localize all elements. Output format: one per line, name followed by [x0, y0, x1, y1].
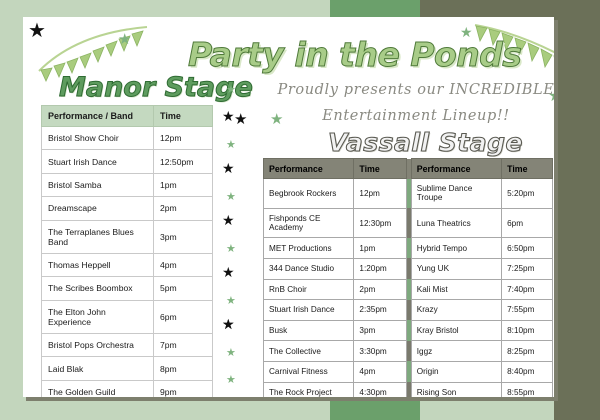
vassall-cell-time-2: 8:10pm — [502, 320, 553, 341]
vassall-cell-performance-1: MET Productions — [264, 238, 354, 259]
vassall-table-row: Stuart Irish Dance2:35pmKrazy7:55pm — [264, 300, 553, 321]
vassall-cell-time-1: 3pm — [354, 320, 406, 341]
vassall-cell-time-2: 8:25pm — [502, 341, 553, 362]
bottom-green-tab — [330, 400, 420, 420]
manor-table-body: Bristol Show Choir12pmStuart Irish Dance… — [42, 127, 213, 398]
vassall-table-row: 344 Dance Studio1:20pmYung UK7:25pm — [264, 258, 553, 279]
vassall-table-row: MET Productions1pmHybrid Tempo6:50pm — [264, 238, 553, 259]
star-col-3-icon: ★ — [226, 139, 236, 150]
vassall-cell-time-2: 6:50pm — [502, 238, 553, 259]
manor-cell-performance: Dreamscape — [42, 197, 154, 220]
vassall-table-row: Busk3pmKray Bristol8:10pm — [264, 320, 553, 341]
manor-table-row: Stuart Irish Dance12:50pm — [42, 150, 213, 173]
manor-cell-performance: Laid Blak — [42, 357, 154, 380]
vassall-cell-time-2: 5:20pm — [502, 179, 553, 209]
vassall-cell-performance-2: Luna Theatrics — [411, 208, 501, 238]
star-col-13-icon: ★ — [226, 374, 236, 385]
star-col-9-icon: ★ — [226, 295, 236, 306]
vassall-cell-time-2: 7:55pm — [502, 300, 553, 321]
poster-card: Party in the Ponds Proudly presents our … — [23, 17, 554, 397]
manor-cell-time: 12:50pm — [153, 150, 212, 173]
vassall-stage-table: Performance Time Performance Time Begbro… — [263, 158, 553, 397]
star-col-11-icon: ★ — [226, 347, 236, 358]
manor-cell-performance: The Terraplanes Blues Band — [42, 220, 154, 253]
manor-col-time: Time — [153, 106, 212, 127]
vassall-cell-performance-2: Origin — [411, 361, 501, 382]
manor-cell-time: 2pm — [153, 197, 212, 220]
manor-table-row: The Scribes Boombox5pm — [42, 277, 213, 300]
manor-stage-title: Manor Stage — [59, 72, 253, 103]
vassall-col-time-2: Time — [502, 159, 553, 179]
vassall-cell-time-1: 12pm — [354, 179, 406, 209]
manor-stage-table: Performance / Band Time Bristol Show Cho… — [41, 105, 213, 397]
vassall-table-header-row: Performance Time Performance Time — [264, 159, 553, 179]
manor-table-row: Bristol Samba1pm — [42, 173, 213, 196]
vassall-cell-performance-2: Sublime Dance Troupe — [411, 179, 501, 209]
star-col-7-icon: ★ — [226, 243, 236, 254]
vassall-col-performance-2: Performance — [411, 159, 501, 179]
vassall-col-time-1: Time — [354, 159, 406, 179]
manor-col-performance: Performance / Band — [42, 106, 154, 127]
vassall-cell-performance-1: 344 Dance Studio — [264, 258, 354, 279]
vassall-table-row: Begbrook Rockers12pmSublime Dance Troupe… — [264, 179, 553, 209]
vassall-cell-performance-1: The Rock Project — [264, 382, 354, 397]
star-col-5-icon: ★ — [226, 191, 236, 202]
vassall-cell-performance-2: Krazy — [411, 300, 501, 321]
vassall-cell-performance-1: Stuart Irish Dance — [264, 300, 354, 321]
vassall-cell-performance-1: The Collective — [264, 341, 354, 362]
vassall-cell-time-2: 7:40pm — [502, 279, 553, 300]
star-mid-inline-icon: ★ — [270, 112, 283, 127]
manor-table-row: The Golden Guild9pm — [42, 380, 213, 397]
right-olive-border — [554, 0, 600, 420]
manor-cell-time: 4pm — [153, 253, 212, 276]
vassall-cell-performance-1: RnB Choir — [264, 279, 354, 300]
poster-subtitle: Proudly presents our INCREDIBLE Entertai… — [271, 77, 554, 129]
vassall-cell-time-1: 1pm — [354, 238, 406, 259]
manor-cell-time: 7pm — [153, 334, 212, 357]
manor-cell-time: 12pm — [153, 127, 212, 150]
vassall-cell-performance-1: Busk — [264, 320, 354, 341]
star-col-4-icon: ★ — [222, 162, 235, 176]
manor-cell-time: 6pm — [153, 300, 212, 333]
vassall-cell-performance-2: Yung UK — [411, 258, 501, 279]
subtitle-line-1: Proudly presents our INCREDIBLE — [278, 82, 554, 98]
vassall-cell-performance-2: Kali Mist — [411, 279, 501, 300]
vassall-stage-title: Vassall Stage — [328, 128, 523, 157]
manor-table-row: The Elton John Experience6pm — [42, 300, 213, 333]
vassall-cell-performance-2: Iggz — [411, 341, 501, 362]
manor-table-row: Bristol Show Choir12pm — [42, 127, 213, 150]
vassall-table-body: Begbrook Rockers12pmSublime Dance Troupe… — [264, 179, 553, 397]
manor-cell-performance: Bristol Samba — [42, 173, 154, 196]
manor-table-header-row: Performance / Band Time — [42, 106, 213, 127]
star-top-right-a-icon: ★ — [460, 26, 473, 40]
star-right-mid-icon: ★ — [548, 88, 554, 104]
star-top-left-icon: ★ — [28, 20, 46, 40]
vassall-cell-time-1: 12:30pm — [354, 208, 406, 238]
manor-cell-time: 5pm — [153, 277, 212, 300]
vassall-cell-time-2: 8:40pm — [502, 361, 553, 382]
subtitle-line-2: Entertainment Lineup!! — [271, 103, 554, 129]
star-col-12-icon: ★ — [222, 318, 235, 332]
manor-cell-performance: Bristol Show Choir — [42, 127, 154, 150]
vassall-cell-time-1: 4:30pm — [354, 382, 406, 397]
vassall-cell-time-1: 2pm — [354, 279, 406, 300]
vassall-cell-time-2: 8:55pm — [502, 382, 553, 397]
vassall-table-row: The Collective3:30pmIggz8:25pm — [264, 341, 553, 362]
vassall-cell-time-2: 6pm — [502, 208, 553, 238]
vassall-cell-performance-2: Hybrid Tempo — [411, 238, 501, 259]
star-top-mid-icon: ★ — [118, 32, 131, 47]
manor-cell-time: 8pm — [153, 357, 212, 380]
manor-table-row: Thomas Heppell4pm — [42, 253, 213, 276]
manor-cell-performance: The Golden Guild — [42, 380, 154, 397]
vassall-table-row: RnB Choir2pmKali Mist7:40pm — [264, 279, 553, 300]
manor-table-row: Dreamscape2pm — [42, 197, 213, 220]
star-mid-inline-2-icon: ★ — [234, 112, 247, 127]
vassall-cell-time-2: 7:25pm — [502, 258, 553, 279]
vassall-table-row: The Rock Project4:30pmRising Son8:55pm — [264, 382, 553, 397]
manor-cell-time: 3pm — [153, 220, 212, 253]
manor-table-row: Bristol Pops Orchestra7pm — [42, 334, 213, 357]
vassall-table-row: Carnival Fitness4pmOrigin8:40pm — [264, 361, 553, 382]
manor-cell-performance: Bristol Pops Orchestra — [42, 334, 154, 357]
vassall-cell-performance-1: Carnival Fitness — [264, 361, 354, 382]
vassall-cell-time-1: 1:20pm — [354, 258, 406, 279]
vassall-cell-time-1: 2:35pm — [354, 300, 406, 321]
vassall-col-performance-1: Performance — [264, 159, 354, 179]
manor-cell-time: 9pm — [153, 380, 212, 397]
vassall-table-row: Fishponds CE Academy12:30pmLuna Theatric… — [264, 208, 553, 238]
vassall-cell-performance-1: Fishponds CE Academy — [264, 208, 354, 238]
vassall-cell-performance-2: Kray Bristol — [411, 320, 501, 341]
manor-cell-performance: Thomas Heppell — [42, 253, 154, 276]
manor-cell-performance: The Elton John Experience — [42, 300, 154, 333]
manor-cell-time: 1pm — [153, 173, 212, 196]
vassall-cell-performance-2: Rising Son — [411, 382, 501, 397]
manor-cell-performance: The Scribes Boombox — [42, 277, 154, 300]
vassall-cell-time-1: 4pm — [354, 361, 406, 382]
vassall-cell-time-1: 3:30pm — [354, 341, 406, 362]
manor-cell-performance: Stuart Irish Dance — [42, 150, 154, 173]
star-col-6-icon: ★ — [222, 214, 235, 228]
star-col-1-icon: ★ — [226, 84, 236, 95]
star-col-8-icon: ★ — [222, 266, 235, 280]
manor-table-row: The Terraplanes Blues Band3pm — [42, 220, 213, 253]
star-col-2-icon: ★ — [222, 110, 235, 124]
vassall-cell-performance-1: Begbrook Rockers — [264, 179, 354, 209]
manor-table-row: Laid Blak8pm — [42, 357, 213, 380]
